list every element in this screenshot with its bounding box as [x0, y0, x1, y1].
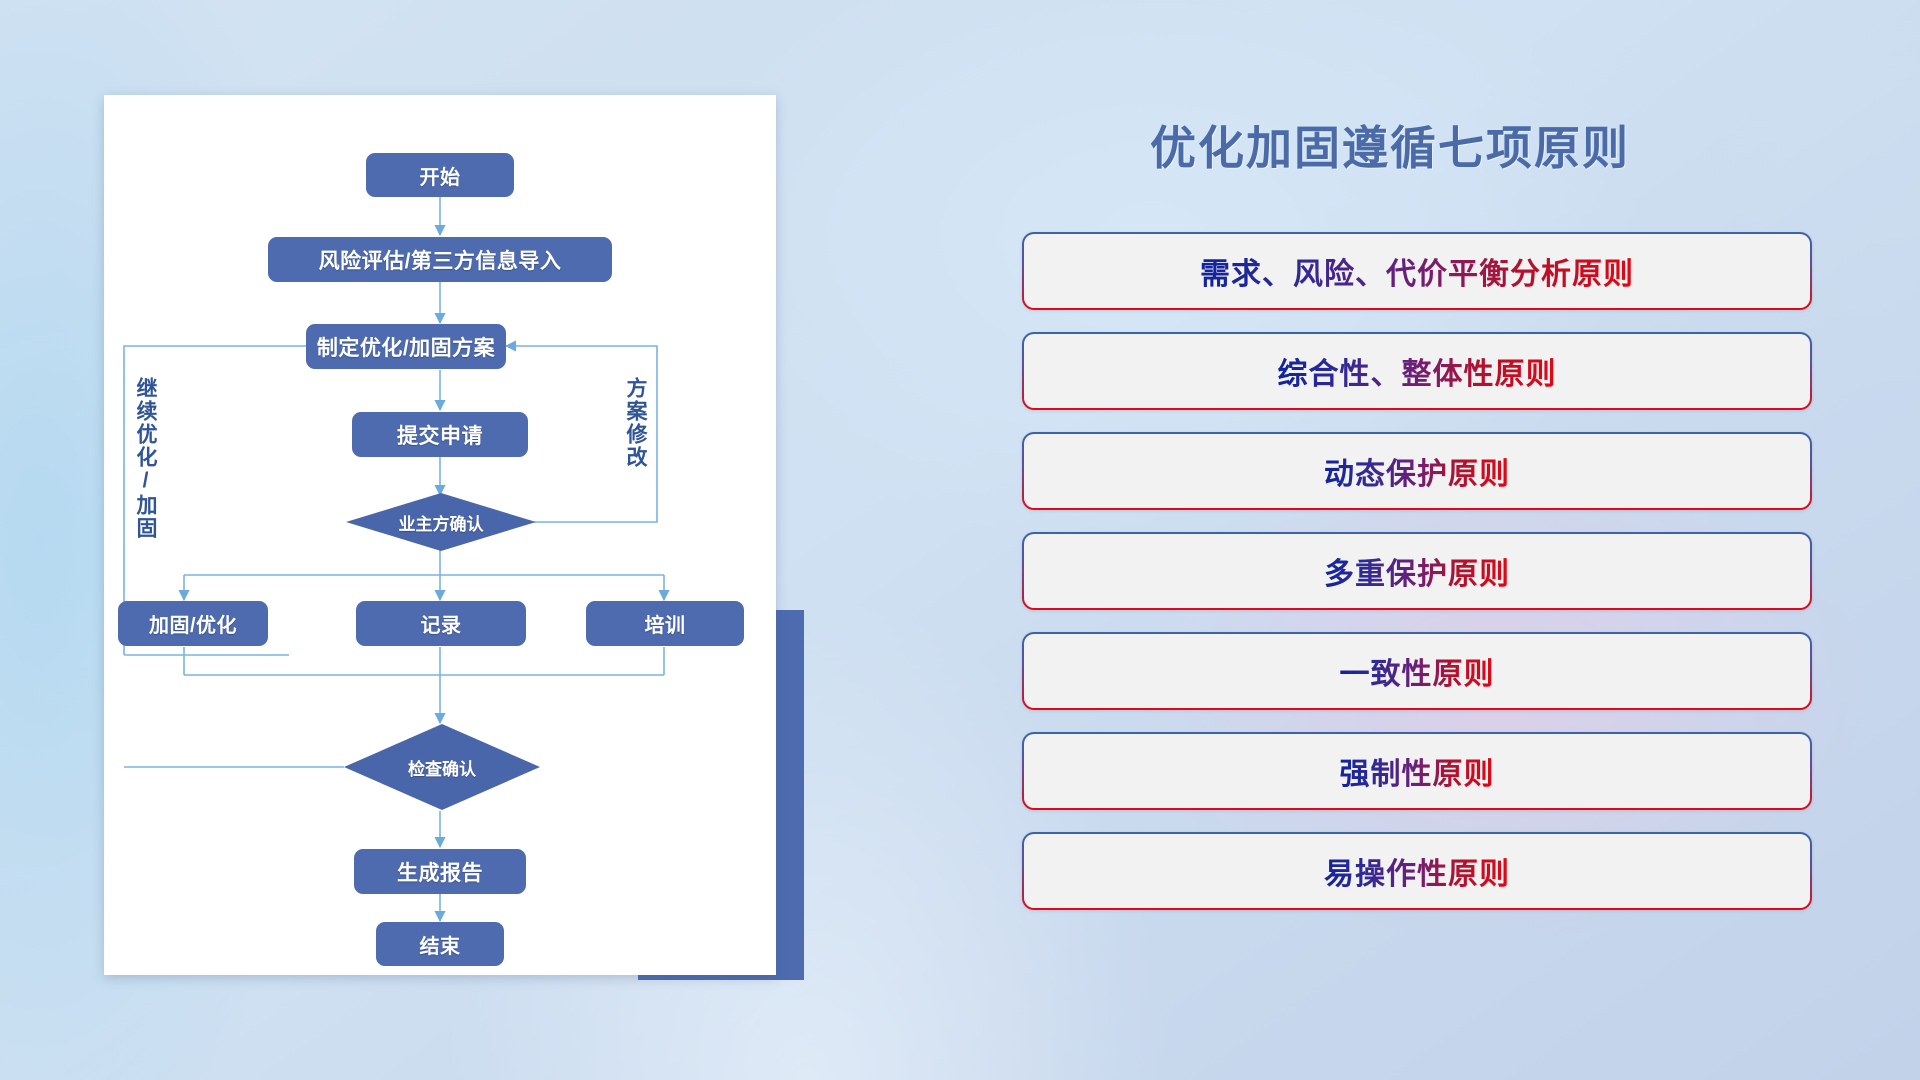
flow-node-reinforce-label: 加固/优化 — [149, 609, 237, 638]
principle-item[interactable]: 动态保护原则 — [1022, 432, 1812, 510]
flow-node-reinforce[interactable]: 加固/优化 — [118, 601, 268, 646]
principle-item[interactable]: 综合性、整体性原则 — [1022, 332, 1812, 410]
flow-node-submit-label: 提交申请 — [397, 420, 483, 450]
flow-node-plan[interactable]: 制定优化/加固方案 — [306, 324, 506, 369]
principle-item[interactable]: 一致性原则 — [1022, 632, 1812, 710]
flow-decision-check-confirm-label: 检查确认 — [408, 755, 476, 780]
flow-node-report[interactable]: 生成报告 — [354, 849, 526, 894]
flow-node-training[interactable]: 培训 — [586, 601, 744, 646]
panel-title: 优化加固遵循七项原则 — [1150, 112, 1630, 178]
principle-item-label: 动态保护原则 — [1324, 449, 1510, 493]
principle-item[interactable]: 需求、风险、代价平衡分析原则 — [1022, 232, 1812, 310]
principle-item[interactable]: 多重保护原则 — [1022, 532, 1812, 610]
flowchart-card: 开始 风险评估/第三方信息导入 制定优化/加固方案 提交申请 业主方确认 加固/… — [104, 95, 776, 975]
flow-decision-owner-confirm-label: 业主方确认 — [399, 510, 484, 535]
slide-canvas: 开始 风险评估/第三方信息导入 制定优化/加固方案 提交申请 业主方确认 加固/… — [0, 0, 1920, 1080]
principle-item-label: 一致性原则 — [1340, 649, 1495, 693]
principle-item-label: 强制性原则 — [1340, 749, 1495, 793]
flow-node-end[interactable]: 结束 — [376, 922, 504, 966]
flow-node-end-label: 结束 — [420, 930, 461, 959]
principle-item[interactable]: 强制性原则 — [1022, 732, 1812, 810]
flow-node-record[interactable]: 记录 — [356, 601, 526, 646]
flowchart: 开始 风险评估/第三方信息导入 制定优化/加固方案 提交申请 业主方确认 加固/… — [104, 95, 776, 975]
principles-list: 需求、风险、代价平衡分析原则 综合性、整体性原则 动态保护原则 多重保护原则 一… — [1022, 232, 1812, 932]
principle-item-label: 需求、风险、代价平衡分析原则 — [1200, 249, 1634, 293]
flow-node-start[interactable]: 开始 — [366, 153, 514, 197]
flow-node-plan-label: 制定优化/加固方案 — [317, 332, 495, 362]
flow-node-risk-assessment-label: 风险评估/第三方信息导入 — [319, 245, 562, 275]
flow-node-start-label: 开始 — [420, 161, 461, 190]
principle-item[interactable]: 易操作性原则 — [1022, 832, 1812, 910]
principle-item-label: 易操作性原则 — [1324, 849, 1510, 893]
principle-item-label: 多重保护原则 — [1324, 549, 1510, 593]
flow-node-training-label: 培训 — [645, 609, 686, 638]
principle-item-label: 综合性、整体性原则 — [1278, 349, 1557, 393]
flow-edge-label-right-loop: 方案修改 — [624, 377, 646, 469]
flow-edge-label-left-loop: 继续优化/加固 — [134, 377, 156, 540]
flow-node-report-label: 生成报告 — [397, 857, 483, 887]
flow-node-submit[interactable]: 提交申请 — [352, 412, 528, 457]
flow-node-risk-assessment[interactable]: 风险评估/第三方信息导入 — [268, 237, 612, 282]
flow-node-record-label: 记录 — [421, 609, 462, 638]
